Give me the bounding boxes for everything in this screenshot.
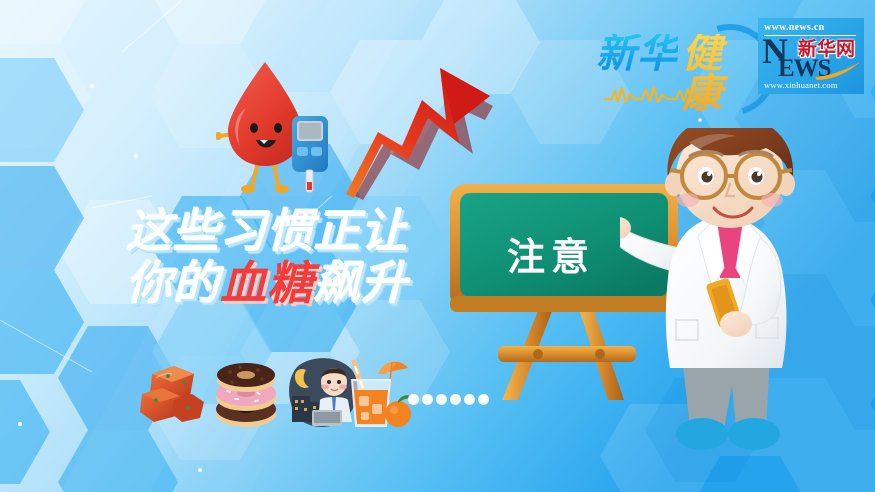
mascot-feet: [241, 185, 289, 193]
habit-icon-row: [138, 352, 468, 437]
easel-legs: [498, 306, 636, 400]
drop-body: [228, 62, 302, 166]
more-habits-ellipsis: [408, 394, 489, 405]
doctor-right-hand: [720, 311, 752, 337]
mascot-left-hand: [216, 132, 222, 140]
ellipsis-dot: [408, 394, 419, 405]
poster-title: 这些习惯正让 你的血糖飙升: [126, 206, 408, 309]
ellipsis-dot: [450, 394, 461, 405]
ellipsis-dot: [436, 394, 447, 405]
poster-canvas: 新华 健康 www.news.cn N EWS 新华网 www.xinhuane…: [0, 0, 875, 492]
doctor-character: [620, 128, 850, 458]
ellipsis-dot: [464, 394, 475, 405]
title-line-1: 这些习惯正让: [126, 206, 408, 258]
news-swoosh-icon: [814, 61, 862, 81]
news-chinese-name: 新华网: [798, 34, 855, 61]
pork-cubes: [140, 366, 204, 422]
donut-top: [217, 363, 275, 392]
glucose-meter: [292, 116, 328, 192]
doctor-shoe-right: [728, 418, 780, 450]
habit-icon-sugary-juice: [334, 352, 406, 432]
blood-drop-svg: [216, 58, 342, 198]
braised-pork-icon: [138, 352, 210, 432]
news-url-bottom: www.xinhuanet.com: [764, 80, 838, 90]
juice-liquid: [354, 390, 388, 424]
heartbeat-line-icon: [604, 82, 724, 106]
doctor-svg: [620, 128, 850, 458]
doctor-blush-left: [677, 193, 699, 207]
doctor-shoe-left: [676, 418, 728, 450]
juice-icon: [334, 352, 414, 432]
title-line2-suffix: 飙升: [314, 256, 408, 310]
easel-crossbar: [498, 346, 636, 362]
ellipsis-dot: [478, 394, 489, 405]
habit-icon-donuts: [210, 352, 282, 432]
health-brand-logo[interactable]: 新华 健康: [592, 22, 762, 108]
ellipsis-dot: [422, 394, 433, 405]
mascot-eye-left: [250, 123, 258, 133]
doctor-blush-right: [761, 193, 783, 207]
mascot-eye-right: [274, 123, 282, 133]
title-line2-prefix: 你的: [126, 256, 220, 310]
title-line-2: 你的血糖飙升: [126, 258, 408, 310]
logo-text-xinhua: 新华: [596, 34, 678, 74]
blackboard-text: 注意: [476, 226, 626, 281]
blood-drop-character: [216, 58, 342, 198]
title-highlight-bloodsugar: 血糖: [220, 256, 314, 310]
donuts-icon: [210, 352, 282, 432]
habit-icon-braised-pork: [138, 352, 210, 432]
xinhua-news-logo[interactable]: www.news.cn N EWS 新华网 www.xinhuanet.com: [758, 18, 864, 94]
